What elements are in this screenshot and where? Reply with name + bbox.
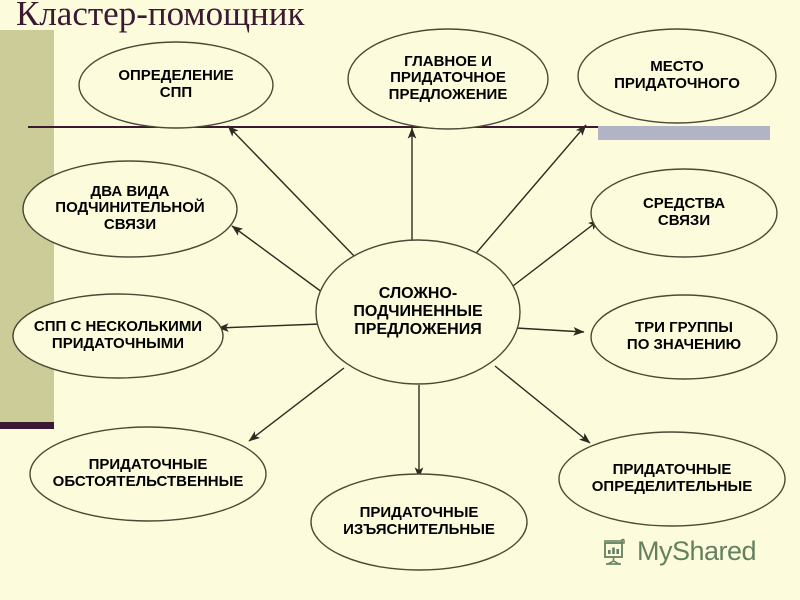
cluster-diagram-graphics <box>0 0 800 600</box>
diagram-node-n2[interactable] <box>348 29 548 129</box>
diagram-node-n7[interactable] <box>591 295 777 379</box>
diagram-node-center[interactable] <box>316 240 520 384</box>
diagram-edge-center-to-n4 <box>232 226 330 298</box>
diagram-edge-center-to-n10 <box>495 366 590 443</box>
diagram-edge-center-to-n8 <box>249 368 344 441</box>
presentation-chart-icon <box>600 537 630 567</box>
diagram-node-n1[interactable] <box>79 42 273 128</box>
watermark-label: MyShared <box>637 536 756 567</box>
diagram-node-n5[interactable] <box>591 169 777 257</box>
diagram-node-n4[interactable] <box>23 161 237 257</box>
diagram-edge-center-to-n5 <box>509 220 599 289</box>
diagram-edge-center-to-n1 <box>228 126 356 258</box>
diagram-edge-center-to-n3 <box>472 125 586 258</box>
diagram-node-n6[interactable] <box>13 294 223 378</box>
diagram-edge-center-to-n7 <box>516 328 584 332</box>
diagram-node-n10[interactable] <box>559 432 785 526</box>
diagram-node-n3[interactable] <box>578 29 776 123</box>
diagram-node-n9[interactable] <box>311 474 527 570</box>
slide-canvas: Кластер-помощник СЛОЖНО- ПОДЧИНЕННЫЕ ПРЕ… <box>0 0 800 600</box>
ellipse-layer <box>13 29 785 570</box>
myshared-watermark: MyShared <box>600 536 756 567</box>
diagram-node-n8[interactable] <box>30 427 266 521</box>
diagram-edge-center-to-n6 <box>218 324 320 328</box>
